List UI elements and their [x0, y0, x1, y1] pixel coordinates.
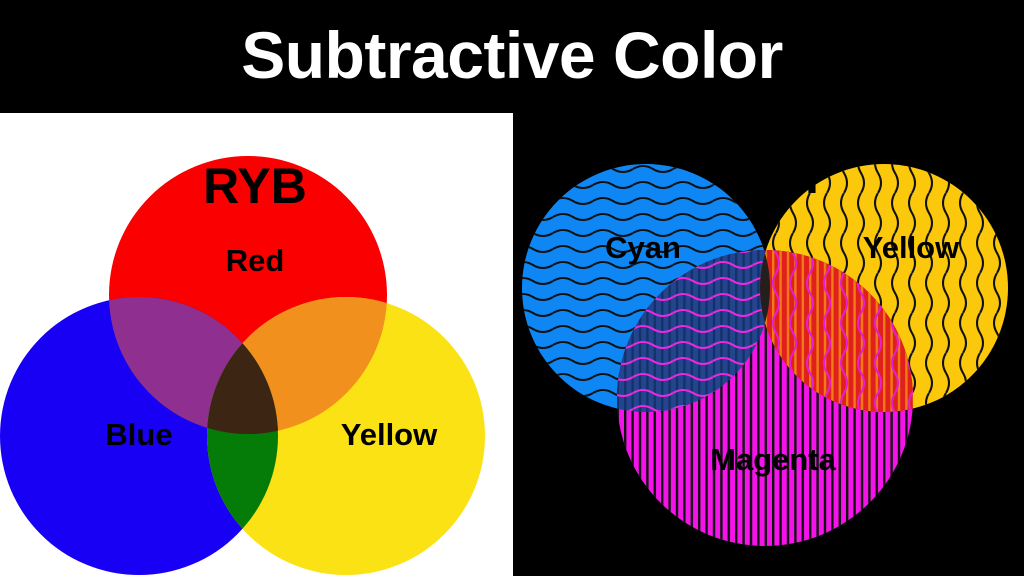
title-bar: Subtractive Color — [0, 0, 1024, 113]
ryb-heading: RYB — [203, 158, 307, 214]
screenshot-root: Subtractive Color — [0, 0, 1024, 576]
cmy-label-cyan: Cyan — [605, 230, 681, 265]
page-title: Subtractive Color — [241, 22, 783, 88]
ryb-label-blue: Blue — [105, 417, 172, 452]
cmy-label-yellow: Yellow — [863, 230, 960, 265]
ryb-venn-diagram: RYB Red Blue Yellow — [0, 113, 513, 576]
ryb-label-yellow: Yellow — [341, 417, 438, 452]
cmy-diagram-panel: CMY Cyan Yellow Magenta — [513, 113, 1024, 576]
cmy-label-magenta: Magenta — [710, 442, 837, 477]
cmy-venn-diagram: CMY Cyan Yellow Magenta — [513, 113, 1024, 576]
cmy-heading: CMY — [717, 148, 828, 204]
ryb-diagram-panel: RYB Red Blue Yellow — [0, 113, 513, 576]
ryb-label-red: Red — [226, 243, 285, 278]
